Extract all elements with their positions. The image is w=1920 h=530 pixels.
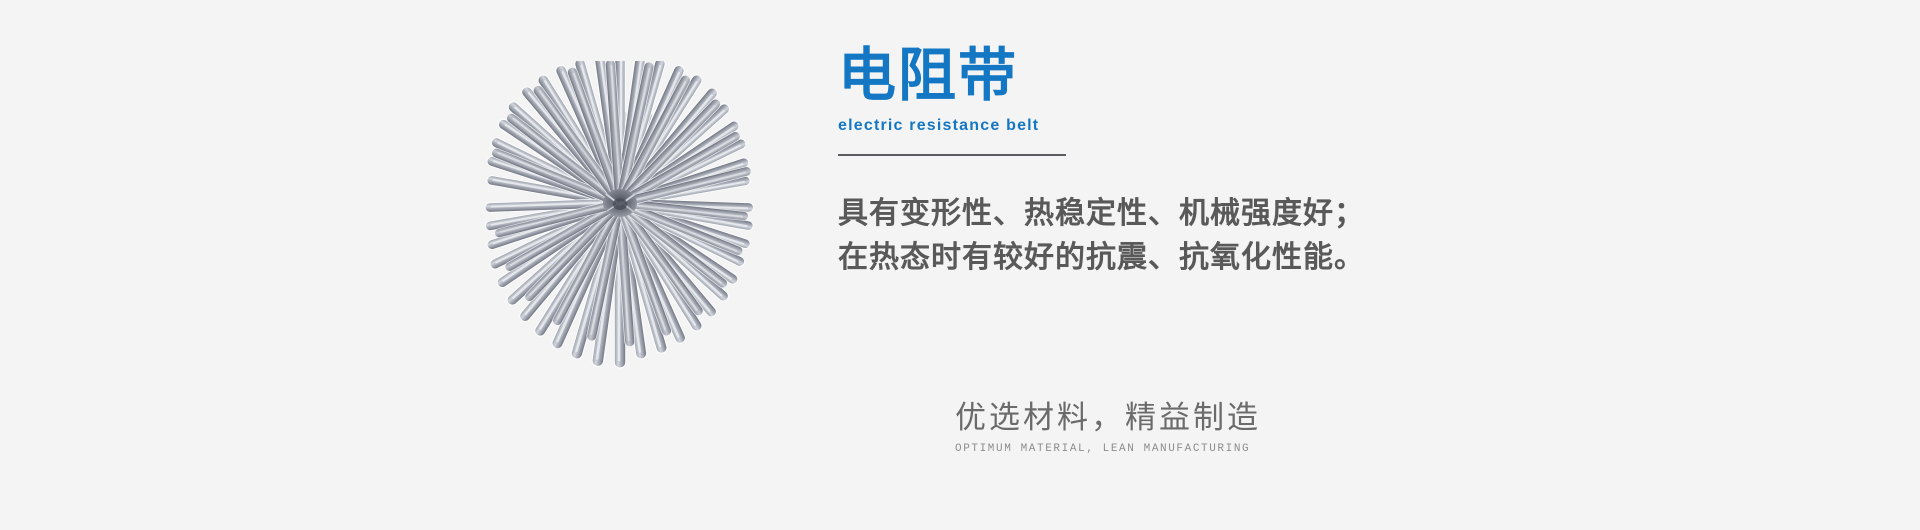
tagline-chinese: 优选材料，精益制造	[955, 400, 1475, 436]
banner-text-column: 电阻带 electric resistance belt 具有变形性、热稳定性、…	[838, 44, 1598, 280]
page-title: 电阻带	[838, 44, 1598, 108]
description-line-2: 在热态时有较好的抗震、抗氧化性能。	[838, 236, 1598, 280]
page-subtitle: electric resistance belt	[838, 116, 1598, 136]
tagline-english: OPTIMUM MATERIAL, LEAN MANUFACTURING	[955, 442, 1475, 456]
title-divider	[838, 154, 1066, 156]
product-image	[395, 61, 845, 441]
resistance-belt-bundle-icon	[395, 61, 845, 441]
tagline-block: 优选材料，精益制造 OPTIMUM MATERIAL, LEAN MANUFAC…	[955, 400, 1475, 456]
product-banner: 电阻带 electric resistance belt 具有变形性、热稳定性、…	[0, 0, 1920, 530]
description-line-1: 具有变形性、热稳定性、机械强度好；	[838, 192, 1598, 236]
product-description: 具有变形性、热稳定性、机械强度好； 在热态时有较好的抗震、抗氧化性能。	[838, 192, 1598, 280]
